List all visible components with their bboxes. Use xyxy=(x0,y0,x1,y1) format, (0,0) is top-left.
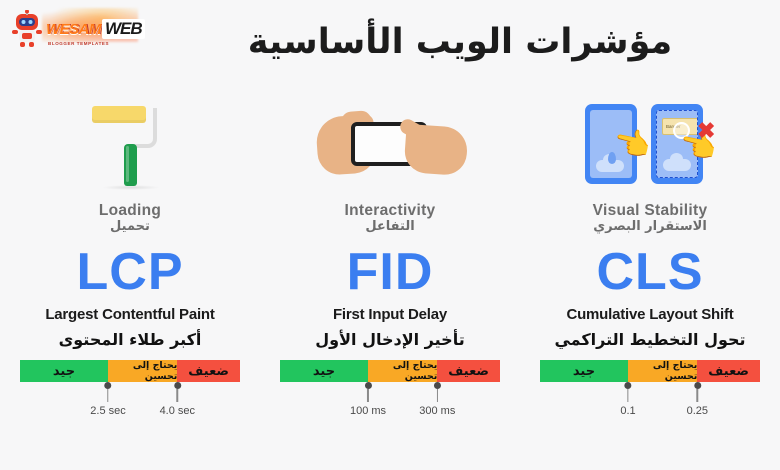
metric-abbreviation: FID xyxy=(347,246,434,298)
category-block: Visual Stability الاستقرار البصري xyxy=(593,202,708,234)
tick-dot-icon xyxy=(694,382,701,389)
scale-segment-good-label: جيد xyxy=(313,364,335,379)
scale-segment-ni-label: يحتاج إلى تحسين xyxy=(108,360,177,382)
metric-name-en: First Input Delay xyxy=(333,306,447,323)
metric-name-en: Cumulative Layout Shift xyxy=(566,306,733,323)
threshold-label: 0.1 xyxy=(620,405,635,417)
page-title: مؤشرات الويب الأساسية xyxy=(150,22,770,62)
tick-line xyxy=(177,389,179,402)
threshold-scale: جيد يحتاج إلى تحسين ضعيف 2.5 sec xyxy=(20,360,240,422)
tick-line xyxy=(437,389,439,402)
logo-text-primary: WESAM xyxy=(46,21,101,38)
scale-segment-poor: ضعيف xyxy=(177,360,240,382)
scale-segment-poor-label: ضعيف xyxy=(448,364,489,379)
scale-segment-ni-label: يحتاج إلى تحسين xyxy=(368,360,437,382)
threshold-ticks: 2.5 sec 4.0 sec xyxy=(20,382,240,422)
category-label-en: Visual Stability xyxy=(593,202,708,219)
infographic-page: WESAM WEB BLOGGER TEMPLATES مؤشرات الويب… xyxy=(0,0,780,470)
metric-abbreviation: LCP xyxy=(77,246,184,298)
threshold-tick: 0.1 xyxy=(620,382,635,417)
metric-name-ar: تأخير الإدخال الأول xyxy=(315,330,464,349)
category-block: Interactivity التفاعل xyxy=(345,202,436,234)
tick-dot-icon xyxy=(624,382,631,389)
metric-column-cls: Banner 👈 👈 ✖ Visual Stability الاستقرار … xyxy=(520,96,780,422)
tick-line xyxy=(627,389,629,402)
scale-segment-ni-label: يحتاج إلى تحسين xyxy=(628,360,697,382)
metric-name-ar: أكبر طلاء المحتوى xyxy=(59,330,202,349)
threshold-tick: 300 ms xyxy=(419,382,455,417)
metric-column-fid: Interactivity التفاعل FID First Input De… xyxy=(260,96,520,422)
threshold-label: 0.25 xyxy=(687,405,708,417)
threshold-label: 2.5 sec xyxy=(90,405,125,417)
pointing-hand-icon: 👈 xyxy=(610,126,653,163)
threshold-tick: 4.0 sec xyxy=(160,382,195,417)
threshold-label: 100 ms xyxy=(350,405,386,417)
robot-mascot-icon xyxy=(10,10,44,48)
tick-line xyxy=(107,389,109,402)
metric-abbreviation: CLS xyxy=(597,246,704,298)
category-label-ar: الاستقرار البصري xyxy=(593,220,708,234)
scale-segment-poor: ضعيف xyxy=(437,360,500,382)
threshold-ticks: 100 ms 300 ms xyxy=(280,382,500,422)
scale-segment-poor-label: ضعيف xyxy=(188,364,229,379)
scale-bar: جيد يحتاج إلى تحسين ضعيف xyxy=(280,360,500,382)
scale-segment-poor-label: ضعيف xyxy=(708,364,749,379)
metric-column-lcp: Loading تحميل LCP Largest Contentful Pai… xyxy=(0,96,260,422)
scale-segment-good: جيد xyxy=(540,360,628,382)
category-label-en: Interactivity xyxy=(345,202,436,219)
layout-shift-phones-icon: Banner 👈 👈 ✖ xyxy=(520,96,780,188)
scale-segment-good: جيد xyxy=(20,360,108,382)
metric-name-ar: تحول التخطيط التراكمي xyxy=(554,330,745,349)
tick-dot-icon xyxy=(364,382,371,389)
paint-roller-icon xyxy=(0,96,260,188)
tick-line xyxy=(697,389,699,402)
scale-bar: جيد يحتاج إلى تحسين ضعيف xyxy=(540,360,760,382)
category-label-ar: تحميل xyxy=(99,220,161,234)
threshold-label: 4.0 sec xyxy=(160,405,195,417)
metrics-row: Loading تحميل LCP Largest Contentful Pai… xyxy=(0,96,780,422)
tick-dot-icon xyxy=(174,382,181,389)
scale-bar: جيد يحتاج إلى تحسين ضعيف xyxy=(20,360,240,382)
category-block: Loading تحميل xyxy=(99,202,161,234)
threshold-ticks: 0.1 0.25 xyxy=(540,382,760,422)
threshold-label: 300 ms xyxy=(419,405,455,417)
hands-tapping-phone-icon xyxy=(260,96,520,188)
threshold-tick: 100 ms xyxy=(350,382,386,417)
scale-segment-good-label: جيد xyxy=(53,364,75,379)
error-x-icon: ✖ xyxy=(697,118,715,144)
threshold-scale: جيد يحتاج إلى تحسين ضعيف 0.1 xyxy=(540,360,760,422)
tick-dot-icon xyxy=(434,382,441,389)
scale-segment-good-label: جيد xyxy=(573,364,595,379)
category-label-en: Loading xyxy=(99,202,161,219)
scale-segment-needs-improvement: يحتاج إلى تحسين xyxy=(368,360,437,382)
metric-name-en: Largest Contentful Paint xyxy=(45,306,214,323)
scale-segment-good: جيد xyxy=(280,360,368,382)
category-label-ar: التفاعل xyxy=(345,220,436,234)
tick-dot-icon xyxy=(105,382,112,389)
scale-segment-needs-improvement: يحتاج إلى تحسين xyxy=(108,360,177,382)
tick-line xyxy=(367,389,369,402)
logo-text-secondary: WEB xyxy=(102,19,145,39)
logo-tagline: BLOGGER TEMPLATES xyxy=(48,41,109,46)
threshold-tick: 0.25 xyxy=(687,382,708,417)
scale-segment-poor: ضعيف xyxy=(697,360,760,382)
threshold-scale: جيد يحتاج إلى تحسين ضعيف 100 ms xyxy=(280,360,500,422)
site-logo: WESAM WEB BLOGGER TEMPLATES xyxy=(10,8,130,50)
logo-wordmark: WESAM WEB BLOGGER TEMPLATES xyxy=(46,10,145,48)
scale-segment-needs-improvement: يحتاج إلى تحسين xyxy=(628,360,697,382)
threshold-tick: 2.5 sec xyxy=(90,382,125,417)
